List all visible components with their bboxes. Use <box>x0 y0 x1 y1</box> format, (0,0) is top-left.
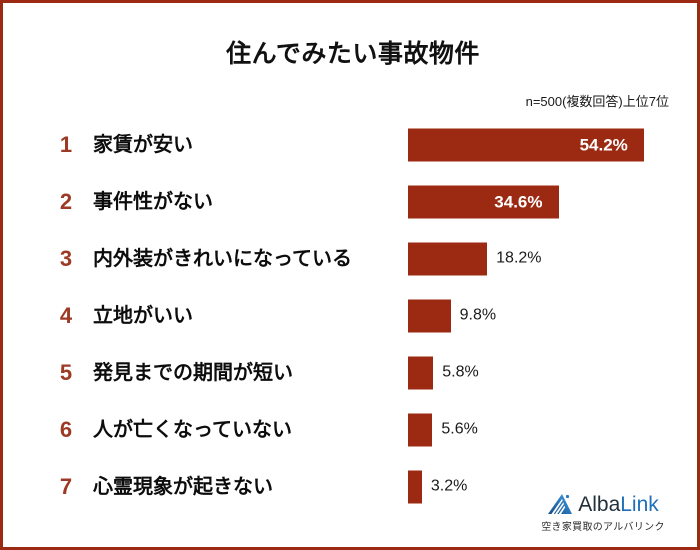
sample-size-note: n=500(複数回答)上位7位 <box>526 91 669 110</box>
logo-word-link: Link <box>620 493 659 516</box>
rank-number: 5 <box>53 362 79 384</box>
bar-zone: 3.2% <box>408 470 467 503</box>
rank-label: 内外装がきれいになっている <box>93 249 352 269</box>
page-title: 住んでみたい事故物件 <box>3 41 700 69</box>
bar-value-outside: 5.8% <box>442 365 478 381</box>
bar-value-outside: 9.8% <box>460 308 496 324</box>
rank-label: 立地がいい <box>93 306 193 326</box>
ranking-list: 1家賃が安い54.2%2事件性がない34.6%3内外装がきれいになっている18.… <box>3 116 700 515</box>
infographic-canvas: 住んでみたい事故物件 n=500(複数回答)上位7位 1家賃が安い54.2%2事… <box>0 0 700 550</box>
ranking-row: 5発見までの期間が短い5.8% <box>3 344 700 401</box>
rank-number: 7 <box>53 476 79 498</box>
bar-zone: 34.6% <box>408 185 559 218</box>
rank-number: 2 <box>53 191 79 213</box>
value-bar <box>408 242 487 275</box>
ranking-row: 4立地がいい9.8% <box>3 287 700 344</box>
logo-wordmark: AlbaLink <box>578 494 659 515</box>
logo-lockup: AlbaLink <box>529 493 677 515</box>
bar-value-outside: 5.6% <box>441 422 477 438</box>
logo-word-alba: Alba <box>578 493 620 516</box>
value-bar <box>408 413 432 446</box>
bar-zone: 54.2% <box>408 128 644 161</box>
ranking-row: 1家賃が安い54.2% <box>3 116 700 173</box>
rank-label: 心霊現象が起きない <box>93 477 273 497</box>
value-bar <box>408 299 451 332</box>
value-bar: 54.2% <box>408 128 644 161</box>
rank-label: 発見までの期間が短い <box>93 363 293 383</box>
value-bar: 34.6% <box>408 185 559 218</box>
value-bar <box>408 356 433 389</box>
rank-number: 4 <box>53 305 79 327</box>
ranking-row: 3内外装がきれいになっている18.2% <box>3 230 700 287</box>
bar-value-inside: 54.2% <box>580 136 644 153</box>
mountain-icon <box>547 493 573 515</box>
bar-value-inside: 34.6% <box>494 193 558 210</box>
value-bar <box>408 470 422 503</box>
rank-label: 家賃が安い <box>93 135 193 155</box>
bar-zone: 5.8% <box>408 356 479 389</box>
bar-zone: 18.2% <box>408 242 542 275</box>
rank-number: 1 <box>53 134 79 156</box>
bar-zone: 5.6% <box>408 413 478 446</box>
rank-number: 6 <box>53 419 79 441</box>
bar-value-outside: 3.2% <box>431 479 467 495</box>
bar-zone: 9.8% <box>408 299 496 332</box>
ranking-row: 2事件性がない34.6% <box>3 173 700 230</box>
rank-number: 3 <box>53 248 79 270</box>
logo-tagline: 空き家買取のアルバリンク <box>529 518 677 533</box>
ranking-row: 6人が亡くなっていない5.6% <box>3 401 700 458</box>
albalink-logo[interactable]: AlbaLink 空き家買取のアルバリンク <box>529 493 677 533</box>
rank-label: 人が亡くなっていない <box>93 420 292 440</box>
bar-value-outside: 18.2% <box>496 251 541 267</box>
rank-label: 事件性がない <box>93 192 213 212</box>
